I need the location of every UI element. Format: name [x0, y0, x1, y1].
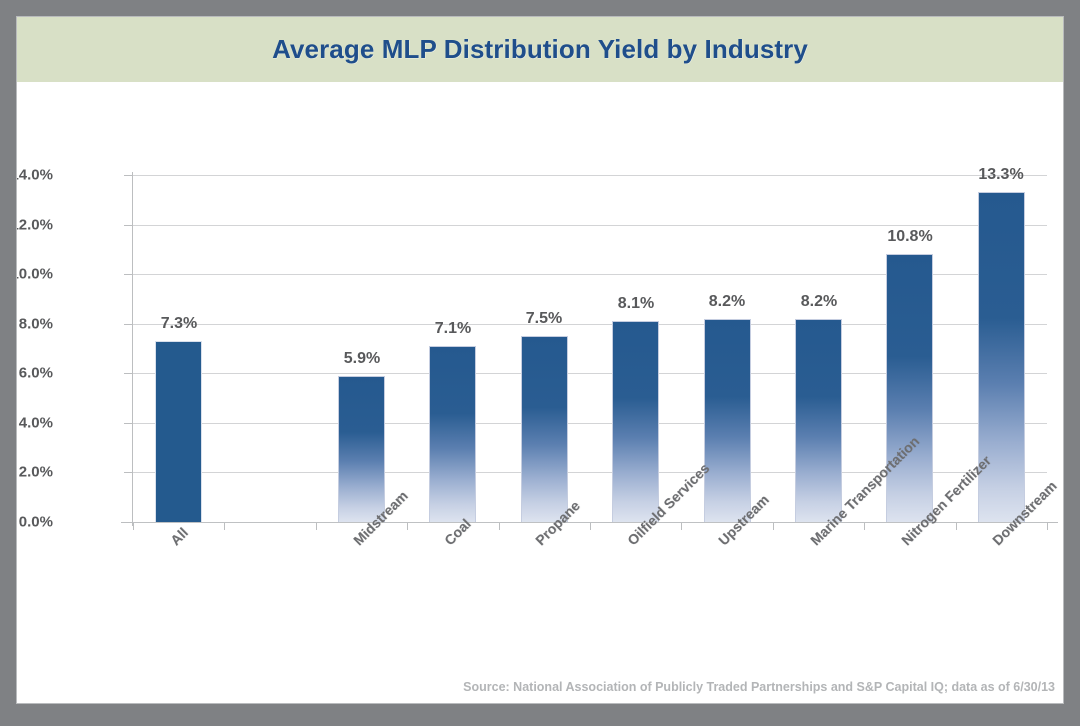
x-axis-tick-mark: [864, 523, 865, 530]
y-axis-label: 12.0%: [16, 216, 53, 233]
bar-value-label: 8.2%: [709, 293, 745, 311]
x-axis-label: All: [167, 524, 191, 548]
x-axis-tick-mark: [499, 523, 500, 530]
chart-frame: Average MLP Distribution Yield by Indust…: [0, 0, 1080, 726]
bar-upstream[interactable]: [704, 319, 751, 522]
x-axis-tick-mark: [590, 523, 591, 530]
y-axis-label: 4.0%: [16, 414, 53, 431]
y-axis-tick-mark: [124, 175, 133, 176]
chart-card: Average MLP Distribution Yield by Indust…: [16, 16, 1064, 704]
x-axis-tick-mark: [224, 523, 225, 530]
bar-value-label: 5.9%: [344, 350, 380, 368]
y-axis-tick-mark: [124, 274, 133, 275]
gridline: [133, 225, 1047, 226]
bar-nitrogen-fertilizer[interactable]: [886, 254, 933, 522]
x-axis-tick-mark: [133, 523, 134, 530]
bar-marine-transportation[interactable]: [795, 319, 842, 522]
x-axis-tick-mark: [956, 523, 957, 530]
source-note: Source: National Association of Publicly…: [463, 680, 1055, 694]
x-axis-tick-mark: [407, 523, 408, 530]
bar-value-label: 8.2%: [801, 293, 837, 311]
y-axis-tick-mark: [124, 423, 133, 424]
x-axis-tick-mark: [681, 523, 682, 530]
y-axis-label: 2.0%: [16, 464, 53, 481]
bar-coal[interactable]: [429, 346, 476, 522]
y-axis-label: 0.0%: [16, 514, 53, 531]
bar-value-label: 7.1%: [435, 320, 471, 338]
chart-title-band: Average MLP Distribution Yield by Indust…: [17, 17, 1063, 82]
y-axis-label: 10.0%: [16, 266, 53, 283]
gridline: [133, 522, 1047, 523]
y-axis-tick-mark: [124, 225, 133, 226]
bar-oilfield-services[interactable]: [612, 321, 659, 522]
y-axis-tick-mark: [124, 472, 133, 473]
bar-midstream[interactable]: [338, 376, 385, 522]
bar-propane[interactable]: [521, 336, 568, 522]
y-axis-tick-mark: [124, 522, 133, 523]
x-axis-tick-mark: [1047, 523, 1048, 530]
bar-value-label: 7.5%: [526, 310, 562, 328]
y-axis-label: 8.0%: [16, 315, 53, 332]
y-axis-tick-mark: [124, 324, 133, 325]
chart-title: Average MLP Distribution Yield by Indust…: [272, 34, 808, 65]
plot-area: [133, 175, 1047, 522]
y-axis-label: 6.0%: [16, 365, 53, 382]
y-axis-label: 14.0%: [16, 167, 53, 184]
bar-value-label: 13.3%: [978, 166, 1023, 184]
bar-value-label: 10.8%: [887, 228, 932, 246]
gridline: [133, 175, 1047, 176]
x-axis-tick-mark: [773, 523, 774, 530]
x-axis-tick-mark: [316, 523, 317, 530]
bar-value-label: 8.1%: [618, 295, 654, 313]
bar-value-label: 7.3%: [161, 315, 197, 333]
bar-all[interactable]: [155, 341, 202, 522]
plot-wrapper: 14.0%12.0%10.0%8.0%6.0%4.0%2.0%0.0% 7.3%…: [17, 82, 1064, 704]
y-axis-tick-mark: [124, 373, 133, 374]
